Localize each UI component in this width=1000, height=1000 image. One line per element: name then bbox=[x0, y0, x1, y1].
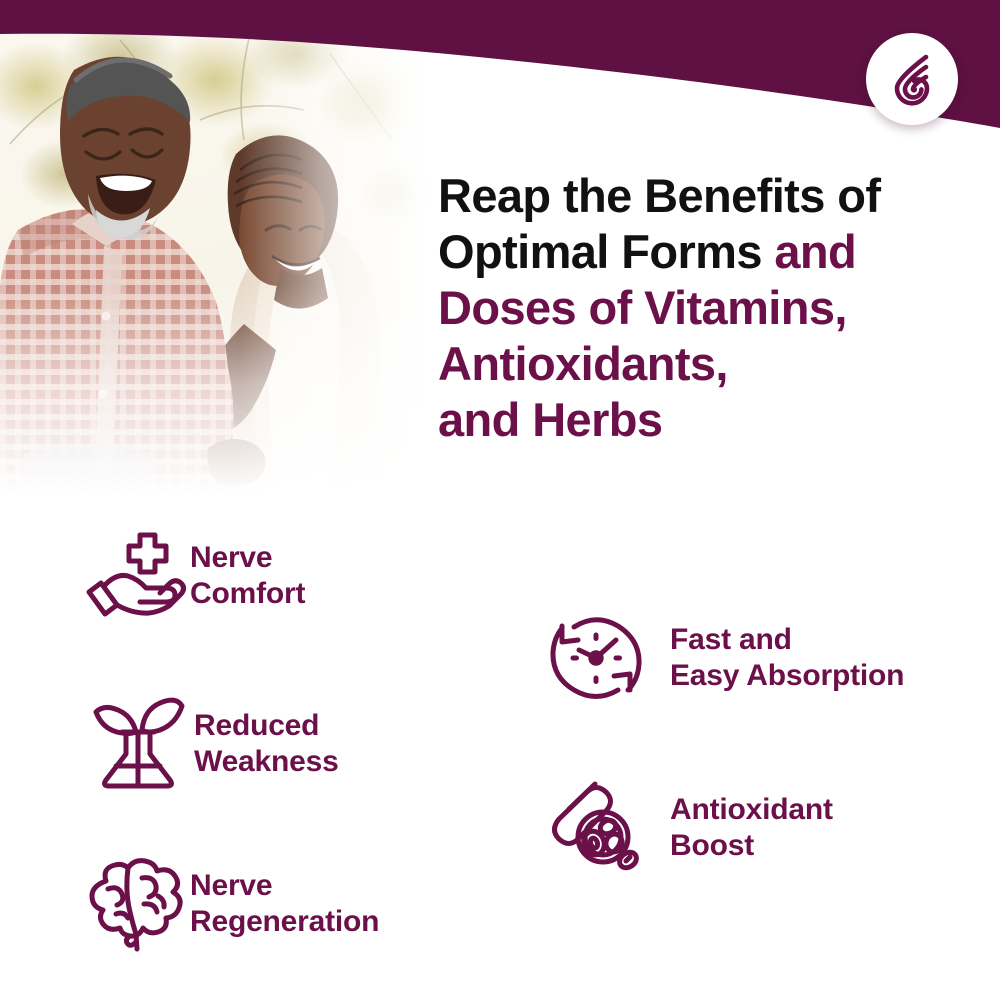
hand-with-medical-cross-icon bbox=[78, 524, 190, 628]
headline-line-3: Doses of Vitamins, bbox=[438, 281, 847, 334]
headline-line-2-accent: and bbox=[774, 225, 856, 278]
benefit-item-fast-easy-absorption: Fast and Easy Absorption bbox=[540, 606, 904, 710]
headline-line-1: Reap the Benefits of bbox=[438, 169, 880, 222]
infographic-page: Reap the Benefits of Optimal Forms and D… bbox=[0, 0, 1000, 1000]
open-capsule-granules-icon bbox=[540, 776, 652, 880]
headline-line-2-dark: Optimal Forms bbox=[438, 225, 774, 278]
page-headline: Reap the Benefits of Optimal Forms and D… bbox=[438, 168, 978, 448]
senior-couple-laughing-photo bbox=[0, 24, 430, 494]
brand-logo-badge[interactable] bbox=[866, 33, 958, 125]
benefit-item-nerve-comfort: Nerve Comfort bbox=[78, 524, 305, 628]
benefit-item-nerve-regeneration: Nerve Regeneration bbox=[78, 852, 379, 956]
benefit-label: Nerve Regeneration bbox=[190, 868, 379, 940]
benefit-label: Antioxidant Boost bbox=[670, 792, 833, 864]
spiral-droplet-logo-icon bbox=[881, 48, 943, 110]
flask-with-sprout-icon bbox=[82, 692, 194, 796]
brain-icon bbox=[78, 852, 190, 956]
benefit-label: Fast and Easy Absorption bbox=[670, 622, 904, 694]
clock-with-arrows-icon bbox=[540, 606, 652, 710]
headline-line-5: and Herbs bbox=[438, 393, 662, 446]
headline-line-4: Antioxidants, bbox=[438, 337, 728, 390]
photo-bottom-fade bbox=[0, 284, 430, 494]
benefit-label: Reduced Weakness bbox=[194, 708, 339, 780]
benefit-item-antioxidant-boost: Antioxidant Boost bbox=[540, 776, 833, 880]
benefit-label: Nerve Comfort bbox=[190, 540, 305, 612]
benefit-item-reduced-weakness: Reduced Weakness bbox=[82, 692, 339, 796]
